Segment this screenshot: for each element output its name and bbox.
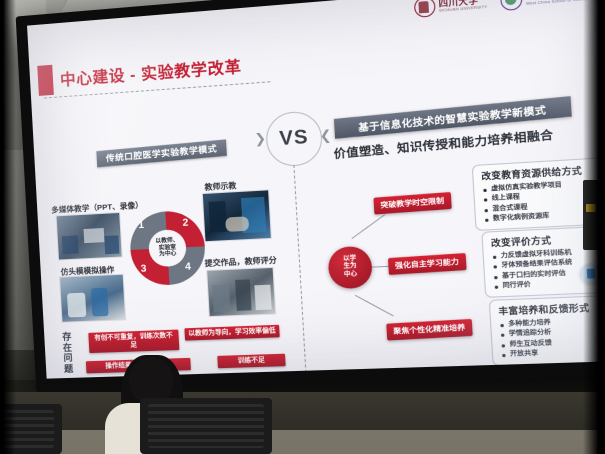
student-centered-circle: 以学 生为 中心	[327, 246, 373, 290]
photo-edge-left	[0, 0, 16, 454]
presentation-slide: 四川大学 SICHUAN UNIVERSITY 华西口腔医学院 West Chi…	[27, 0, 605, 379]
problems-section: 存在问题 有创不可重复，训练次数不足 以教师为导向，学习效率偏低 操作结果评缺乏…	[62, 321, 295, 330]
display-screen: 四川大学 SICHUAN UNIVERSITY 华西口腔医学院 West Chi…	[16, 0, 605, 392]
branch-connector-3	[355, 295, 394, 317]
branch-tag-1: 突破教学时空限制	[373, 192, 451, 215]
circle-line-3: 中心	[344, 271, 358, 279]
vs-badge: VS	[265, 110, 324, 167]
slide-title: 中心建设 - 实验教学改革	[37, 50, 242, 96]
logo-row: 四川大学 SICHUAN UNIVERSITY 华西口腔医学院 West Chi…	[414, 0, 603, 18]
west-china-stomatology-seal-icon	[500, 0, 523, 11]
screen-surface: 四川大学 SICHUAN UNIVERSITY 华西口腔医学院 West Chi…	[27, 0, 605, 379]
logo-sichuan-university: 四川大学 SICHUAN UNIVERSITY	[414, 0, 488, 18]
problem-tag-2: 以教师为导向，学习效率偏低	[184, 325, 279, 341]
wheel-center-line-3: 为中心	[159, 251, 177, 259]
photo-submit-and-score	[206, 267, 276, 317]
branch-connector-1	[351, 214, 385, 239]
photo-edge-right	[583, 0, 605, 454]
wheel-number-2: 2	[182, 217, 188, 229]
chair-center	[140, 398, 272, 454]
problem-tag-1: 有创不可重复，训练次数不足	[88, 330, 179, 354]
sichuan-university-seal-icon	[414, 0, 436, 18]
wheel-number-3: 3	[140, 263, 146, 274]
lecture-hall-photo: 四川大学 SICHUAN UNIVERSITY 华西口腔医学院 West Chi…	[0, 0, 605, 454]
title-accent-block	[37, 65, 54, 96]
chevron-right-icon: ❮	[319, 127, 332, 144]
problems-label: 存在问题	[62, 331, 77, 374]
wheel-number-4: 4	[185, 261, 191, 273]
center-divider	[293, 165, 306, 378]
vs-label: VS	[279, 127, 310, 152]
branch-tag-3: 聚焦个性化精准培养	[386, 319, 472, 341]
branch-tag-2: 强化自主学习能力	[388, 253, 466, 275]
photo-teacher-demonstration	[202, 189, 272, 242]
photo-phantom-head-training	[59, 274, 126, 323]
photo-multimedia-classroom	[56, 212, 123, 261]
left-section-header: 传统口腔医学实验教学模式	[96, 139, 227, 167]
problem-tag-4: 训练不足	[217, 354, 285, 369]
chevron-left-icon: ❯	[254, 130, 267, 147]
wheel-number-1: 1	[138, 220, 144, 231]
traditional-model-wheel: 1 2 3 4 以教师、 实验室 为中心	[128, 209, 206, 286]
